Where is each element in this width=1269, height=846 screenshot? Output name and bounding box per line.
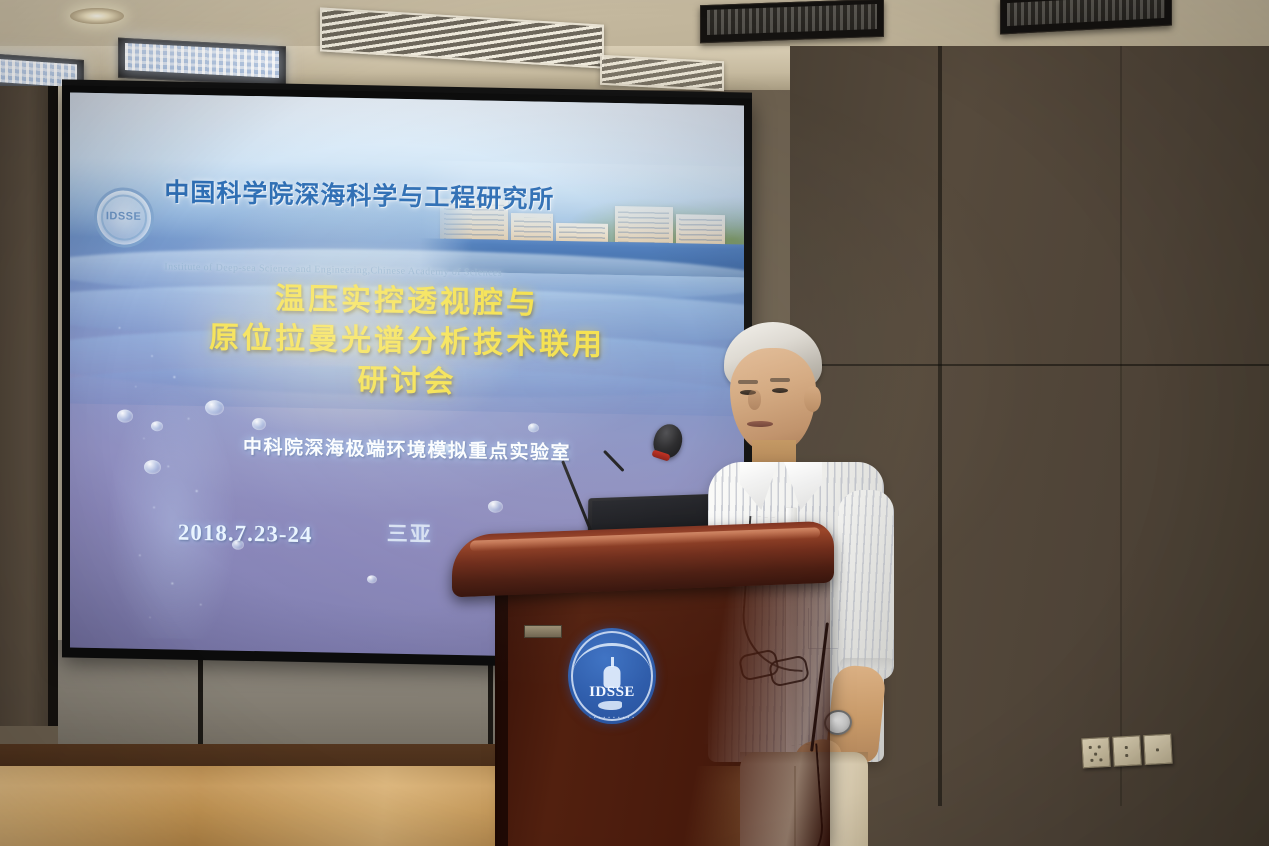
institute-seal-mark: IDSSE	[106, 210, 142, 223]
wall-seam-vertical	[938, 46, 942, 806]
slide-date: 2018.7.23-24	[178, 519, 313, 548]
wall-outlet-1[interactable]	[1081, 737, 1111, 768]
bubble-3	[205, 400, 224, 415]
bubble-4	[252, 418, 266, 430]
wall-left-dark-panel	[0, 86, 48, 726]
wall-outlet-2[interactable]	[1112, 735, 1142, 766]
conference-photo: IDSSE 中国科学院深海科学与工程研究所 Institute of Deep-…	[0, 0, 1269, 846]
podium-nameplate	[524, 625, 562, 638]
wall-seam-vertical-2	[1120, 46, 1122, 806]
wall-outlet-3[interactable]	[1143, 734, 1173, 765]
slide-title: 温压实控透视腔与 原位拉曼光谱分析技术联用 研讨会	[70, 276, 744, 409]
bubble-7	[528, 423, 539, 432]
speaker-arm	[838, 490, 894, 680]
bubble-10	[367, 576, 377, 584]
speaker-ear	[804, 386, 821, 412]
recessed-spotlight-icon	[70, 8, 124, 24]
slide-org-name-cn: 中国科学院深海科学与工程研究所	[164, 172, 554, 215]
idsse-submersible-seal-icon: IDSSE • • • • • • • • • •	[568, 628, 656, 724]
led-panel-light-3	[700, 0, 884, 43]
speaker-brow-right	[770, 378, 790, 382]
speaker-brow-left	[738, 380, 758, 384]
wall-left-gap	[48, 86, 58, 726]
ceiling-air-vent-secondary-icon	[600, 55, 724, 91]
slide-place: 三亚	[387, 518, 433, 549]
speaker-mouth	[747, 421, 773, 427]
bubble-8	[488, 500, 503, 512]
speaker-nose	[748, 390, 761, 410]
podium-body	[508, 578, 830, 846]
wall-outlet-group[interactable]	[1081, 734, 1172, 769]
idsse-emblem-text: IDSSE	[589, 684, 635, 701]
slide-header-band	[70, 93, 744, 250]
speaker-eye-right	[772, 388, 788, 393]
